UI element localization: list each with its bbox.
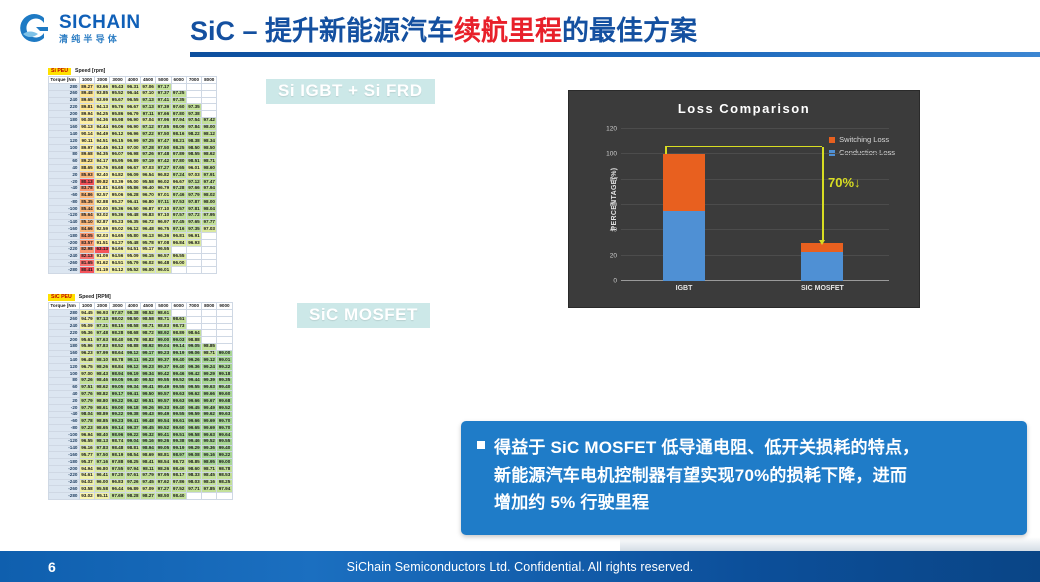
cell-efficiency: 96.28 <box>125 192 140 199</box>
table-row: 28089.2793.6695.4396.3197.0697.17 <box>49 83 217 90</box>
cell-efficiency: 99.59 <box>186 411 201 418</box>
cell-efficiency: 99.37 <box>156 357 171 364</box>
table-row: 4097.7698.8299.1799.4199.5099.5799.6399.… <box>49 391 233 398</box>
cell-efficiency: 96.91 <box>186 233 201 240</box>
cell-efficiency: 96.70 <box>140 192 155 199</box>
cell-efficiency: 99.19 <box>171 445 186 452</box>
cell-efficiency: 98.10 <box>95 357 110 364</box>
table-row: 8089.6894.3596.0796.9897.2697.4897.8998.… <box>49 151 217 158</box>
table-row: 22095.3697.4898.2898.6898.7298.9298.8998… <box>49 330 233 337</box>
cell-efficiency: 97.95 <box>156 472 171 479</box>
cell-efficiency: 98.71 <box>202 350 217 357</box>
cell-efficiency: 97.41 <box>156 97 171 104</box>
cell-efficiency: 95.52 <box>110 90 125 97</box>
cell-efficiency: 96.97 <box>156 219 171 226</box>
cell-efficiency: 99.12 <box>202 357 217 364</box>
cell-efficiency: 98.58 <box>125 323 140 330</box>
cell-torque: -200 <box>49 465 80 472</box>
cell-efficiency: 90.14 <box>79 131 94 138</box>
cell-efficiency: 95.86 <box>125 185 140 192</box>
cell-efficiency: 91.81 <box>95 185 110 192</box>
cell-efficiency: 98.54 <box>125 452 140 459</box>
cell-efficiency: 94.12 <box>110 267 125 274</box>
column-header-speed: 2000 <box>95 77 110 84</box>
cell-efficiency: 97.71 <box>186 486 201 493</box>
cell-efficiency: 95.96 <box>79 343 94 350</box>
cell-efficiency: 93.39 <box>110 178 125 185</box>
cell-efficiency <box>217 309 232 316</box>
cell-efficiency: 97.03 <box>186 172 201 179</box>
cell-efficiency: 97.26 <box>125 479 140 486</box>
table-row: 24095.0997.3198.1598.5898.7198.8398.73 <box>49 323 233 330</box>
table-row: 8097.2698.4699.0599.4099.5299.5599.5299.… <box>49 377 233 384</box>
cell-efficiency <box>202 337 217 344</box>
cell-efficiency: 96.79 <box>156 185 171 192</box>
cell-efficiency: 99.03 <box>171 337 186 344</box>
cell-efficiency: 98.00 <box>202 199 217 206</box>
cell-efficiency: 99.40 <box>125 377 140 384</box>
cell-efficiency <box>186 316 201 323</box>
chart-gridline <box>621 255 889 256</box>
column-header-speed: 8000 <box>202 77 217 84</box>
cell-efficiency: 99.23 <box>110 418 125 425</box>
cell-efficiency: 92.03 <box>95 233 110 240</box>
cell-efficiency: 95.95 <box>110 158 125 165</box>
table-row: -18095.3797.1697.8898.2598.4198.5498.729… <box>49 459 233 466</box>
cell-efficiency: 80.13 <box>79 178 94 185</box>
cell-efficiency: 97.83 <box>95 343 110 350</box>
cell-efficiency: 95.17 <box>140 246 155 253</box>
cell-efficiency: 97.80 <box>171 111 186 118</box>
cell-efficiency: 99.42 <box>186 371 201 378</box>
table-row: -28080.4191.1994.1295.5296.0096.01 <box>49 267 217 274</box>
cell-efficiency <box>202 104 217 111</box>
cell-efficiency: 98.46 <box>95 377 110 384</box>
chart-bar-sic-mosfet: SIC MOSFET <box>801 243 843 281</box>
cell-efficiency: 94.45 <box>95 145 110 152</box>
cell-efficiency: 96.82 <box>156 172 171 179</box>
cell-efficiency: 96.94 <box>79 432 94 439</box>
cell-efficiency: 63.13 <box>95 246 110 253</box>
cell-torque: 280 <box>49 309 80 316</box>
cell-efficiency: 97.42 <box>156 158 171 165</box>
cell-efficiency: 96.15 <box>110 138 125 145</box>
cell-efficiency: 95.02 <box>110 226 125 233</box>
cell-efficiency: 94.65 <box>110 185 125 192</box>
cell-efficiency: 97.38 <box>186 111 201 118</box>
cell-efficiency: 95.58 <box>140 178 155 185</box>
cell-efficiency: 97.27 <box>156 486 171 493</box>
cell-efficiency: 95.06 <box>110 192 125 199</box>
cell-efficiency: 98.71 <box>202 465 217 472</box>
chart-title: Loss Comparison <box>569 101 919 116</box>
cell-efficiency: 96.40 <box>140 185 155 192</box>
cell-efficiency: 97.28 <box>140 145 155 152</box>
cell-efficiency: 99.61 <box>171 418 186 425</box>
cell-efficiency: 99.41 <box>125 391 140 398</box>
cell-efficiency: 97.83 <box>95 445 110 452</box>
cell-efficiency: 98.34 <box>202 138 217 145</box>
cell-efficiency: 93.85 <box>95 90 110 97</box>
cell-efficiency: 96.48 <box>125 212 140 219</box>
cell-efficiency: 99.67 <box>202 398 217 405</box>
cell-efficiency: 99.55 <box>171 411 186 418</box>
cell-efficiency: 97.03 <box>202 226 217 233</box>
cell-efficiency: 96.48 <box>79 357 94 364</box>
cell-efficiency <box>217 337 232 344</box>
cell-efficiency: 98.81 <box>156 452 171 459</box>
cell-efficiency: 97.87 <box>186 199 201 206</box>
cell-efficiency: 99.50 <box>140 391 155 398</box>
cell-efficiency <box>186 246 201 253</box>
cell-efficiency: 95.09 <box>125 253 140 260</box>
cell-efficiency: 93.02 <box>79 493 94 500</box>
cell-efficiency: 90.08 <box>79 117 94 124</box>
cell-efficiency: 99.16 <box>202 452 217 459</box>
cell-efficiency: 99.69 <box>202 418 217 425</box>
cell-torque: 160 <box>49 124 80 131</box>
cell-efficiency: 96.35 <box>125 219 140 226</box>
cell-efficiency: 96.90 <box>125 117 140 124</box>
table-tag: Si PEU <box>48 68 71 75</box>
cell-efficiency <box>202 267 217 274</box>
cell-efficiency: 98.40 <box>171 493 186 500</box>
cell-efficiency: 96.48 <box>140 226 155 233</box>
cell-efficiency: 99.08 <box>186 452 201 459</box>
callout-body: 得益于 SiC MOSFET 低导通电阻、低开关损耗的特点， 新能源汽车电机控制… <box>494 434 919 525</box>
cell-efficiency: 99.40 <box>217 384 232 391</box>
cell-efficiency: 93.76 <box>95 165 110 172</box>
cell-efficiency: 99.33 <box>156 404 171 411</box>
table-row: 4088.6593.7695.6896.6797.0397.2797.6596.… <box>49 165 217 172</box>
cell-efficiency <box>186 309 201 316</box>
cell-efficiency: 98.21 <box>171 138 186 145</box>
cell-efficiency: 99.52 <box>156 425 171 432</box>
cell-efficiency: 99.06 <box>186 350 201 357</box>
cell-efficiency: 99.62 <box>186 391 201 398</box>
cell-efficiency: 99.41 <box>125 418 140 425</box>
cell-efficiency: 97.25 <box>140 138 155 145</box>
cell-torque: -40 <box>49 185 80 192</box>
cell-efficiency: 97.51 <box>79 384 94 391</box>
callout-line-3: 增加约 5% 行驶里程 <box>494 489 919 517</box>
cell-efficiency: 98.22 <box>186 131 201 138</box>
cell-efficiency: 96.13 <box>110 145 125 152</box>
cell-efficiency: 99.00 <box>217 459 232 466</box>
cell-torque: 60 <box>49 158 80 165</box>
cell-efficiency: 98.64 <box>186 330 201 337</box>
cell-torque: -240 <box>49 479 80 486</box>
table-row: -6084.8692.5795.0696.2896.7097.0197.4697… <box>49 192 217 199</box>
annotation-bracket-top <box>665 146 822 148</box>
cell-efficiency: 96.55 <box>125 97 140 104</box>
column-header-speed: 3000 <box>110 77 125 84</box>
cell-efficiency: 95.79 <box>125 260 140 267</box>
table-row: 2097.7998.8099.2299.4299.5199.5799.6399.… <box>49 398 233 405</box>
cell-efficiency: 94.94 <box>79 465 94 472</box>
cell-efficiency: 99.55 <box>217 438 232 445</box>
table-row: -16084.6692.5995.0296.1296.4896.7597.169… <box>49 226 217 233</box>
column-header-speed: 7000 <box>186 77 201 84</box>
cell-efficiency: 99.37 <box>125 425 140 432</box>
cell-efficiency: 98.71 <box>202 158 217 165</box>
chart-gridline <box>621 204 889 205</box>
table-row: 16096.2397.9998.6499.1299.1799.2399.1999… <box>49 350 233 357</box>
cell-efficiency: 85.44 <box>79 206 94 213</box>
cell-efficiency: 97.52 <box>171 486 186 493</box>
cell-efficiency: 95.61 <box>79 337 94 344</box>
cell-efficiency: 90.13 <box>79 124 94 131</box>
cell-efficiency: 96.48 <box>156 260 171 267</box>
cell-efficiency: 99.04 <box>125 438 140 445</box>
cell-efficiency: 99.62 <box>202 411 217 418</box>
cell-efficiency: 99.05 <box>156 445 171 452</box>
cell-efficiency: 96.01 <box>186 165 201 172</box>
cell-efficiency: 95.80 <box>125 233 140 240</box>
cell-efficiency: 97.61 <box>125 472 140 479</box>
cell-efficiency: 97.50 <box>156 131 171 138</box>
cell-efficiency: 99.55 <box>171 384 186 391</box>
cell-efficiency: 98.26 <box>95 364 110 371</box>
cell-efficiency: 95.52 <box>125 267 140 274</box>
cell-efficiency: 99.40 <box>171 357 186 364</box>
cell-efficiency: 97.65 <box>186 219 201 226</box>
cell-efficiency: 98.03 <box>186 479 201 486</box>
cell-efficiency: 97.27 <box>156 165 171 172</box>
cell-torque: 140 <box>49 357 80 364</box>
cell-efficiency: 95.98 <box>110 117 125 124</box>
cell-efficiency: 99.63 <box>171 391 186 398</box>
cell-torque: 40 <box>49 165 80 172</box>
cell-torque: -140 <box>49 445 80 452</box>
cell-efficiency: 99.45 <box>186 404 201 411</box>
table-row: -12096.5598.1398.7499.0499.1699.2699.389… <box>49 438 233 445</box>
cell-efficiency: 93.02 <box>95 212 110 219</box>
cell-efficiency <box>202 83 217 90</box>
cell-efficiency: 96.01 <box>156 267 171 274</box>
cell-efficiency: 98.83 <box>156 323 171 330</box>
cell-efficiency: 99.39 <box>202 377 217 384</box>
cell-efficiency: 98.02 <box>110 316 125 323</box>
cell-efficiency: 94.45 <box>79 309 94 316</box>
cell-efficiency: 96.09 <box>125 172 140 179</box>
column-header-speed: 1000 <box>79 77 94 84</box>
cell-efficiency <box>202 97 217 104</box>
cell-efficiency: 96.67 <box>125 165 140 172</box>
summary-callout: 得益于 SiC MOSFET 低导通电阻、低开关损耗的特点， 新能源汽车电机控制… <box>461 421 1027 535</box>
page-title: SiC – 提升新能源汽车续航里程的最佳方案 <box>190 9 697 48</box>
cell-efficiency: 99.40 <box>217 445 232 452</box>
cell-torque: 180 <box>49 343 80 350</box>
cell-efficiency: 97.77 <box>202 219 217 226</box>
table-row: 20089.9494.2595.8696.7997.1197.6697.8097… <box>49 111 217 118</box>
cell-efficiency: 91.51 <box>95 239 110 246</box>
cell-efficiency: 95.86 <box>110 111 125 118</box>
cell-efficiency: 84.05 <box>79 233 94 240</box>
cell-efficiency: 94.66 <box>110 246 125 253</box>
cell-efficiency: 91.62 <box>95 260 110 267</box>
cell-efficiency: 99.64 <box>217 432 232 439</box>
cell-efficiency: 97.88 <box>110 459 125 466</box>
cell-efficiency: 98.00 <box>202 124 217 131</box>
cell-efficiency <box>202 111 217 118</box>
cell-efficiency: 97.84 <box>186 124 201 131</box>
cell-efficiency: 93.66 <box>95 83 110 90</box>
cell-efficiency: 97.09 <box>140 486 155 493</box>
cell-efficiency <box>202 246 217 253</box>
table-row: -20083.5791.5194.2795.4895.7897.0896.849… <box>49 239 217 246</box>
cell-efficiency: 98.61 <box>156 309 171 316</box>
efficiency-grid-si: Torque [Nm100020003000400045005000600070… <box>48 76 217 274</box>
cell-efficiency: 98.64 <box>110 350 125 357</box>
cell-efficiency: 97.85 <box>156 124 171 131</box>
cell-efficiency <box>171 309 186 316</box>
cell-efficiency: 99.14 <box>171 343 186 350</box>
cell-efficiency: 99.60 <box>171 425 186 432</box>
cell-efficiency: 99.52 <box>140 377 155 384</box>
cell-efficiency <box>171 267 186 274</box>
cell-efficiency: 98.11 <box>140 465 155 472</box>
cell-efficiency: 96.93 <box>95 309 110 316</box>
column-header-speed: 4000 <box>125 303 140 310</box>
cell-torque: -60 <box>49 418 80 425</box>
cell-efficiency <box>186 90 201 97</box>
annotation-arrowhead-icon <box>819 240 825 245</box>
efficiency-table-sic: SiC PEUSpeed [RPM]Torque [Nm100020003000… <box>48 294 233 500</box>
cell-efficiency: 97.79 <box>140 472 155 479</box>
cell-efficiency: 98.04 <box>79 411 94 418</box>
chart-y-tick-label: 100 <box>606 151 617 158</box>
cell-efficiency: 94.56 <box>110 253 125 260</box>
cell-efficiency: 97.79 <box>79 404 94 411</box>
cell-efficiency: 99.49 <box>202 404 217 411</box>
cell-torque: 80 <box>49 151 80 158</box>
cell-efficiency: 99.46 <box>186 438 201 445</box>
cell-efficiency: 96.81 <box>171 233 186 240</box>
cell-torque: 180 <box>49 117 80 124</box>
cell-efficiency: 98.38 <box>186 138 201 145</box>
cell-efficiency: 97.26 <box>140 151 155 158</box>
cell-efficiency: 97.57 <box>171 212 186 219</box>
cell-efficiency: 89.68 <box>79 151 94 158</box>
cell-efficiency <box>202 330 217 337</box>
cell-efficiency: 99.04 <box>156 343 171 350</box>
cell-efficiency: 96.41 <box>125 199 140 206</box>
cell-efficiency: 99.22 <box>110 398 125 405</box>
cell-efficiency: 83.78 <box>79 185 94 192</box>
column-header-speed: 6000 <box>171 77 186 84</box>
loss-comparison-chart: Loss Comparison Switching LossConduction… <box>568 90 920 308</box>
cell-efficiency: 97.87 <box>110 309 125 316</box>
cell-efficiency: 98.82 <box>95 391 110 398</box>
cell-efficiency: 97.66 <box>186 185 201 192</box>
cell-efficiency: 97.11 <box>156 199 171 206</box>
chart-y-tick-label: 0 <box>613 278 617 285</box>
cell-efficiency: 98.40 <box>110 337 125 344</box>
cell-efficiency: 99.17 <box>110 391 125 398</box>
cell-efficiency: 97.94 <box>217 486 232 493</box>
cell-efficiency: 97.91 <box>202 172 217 179</box>
cell-efficiency: 99.36 <box>202 445 217 452</box>
cell-efficiency: 94.02 <box>79 479 94 486</box>
cell-torque: -100 <box>49 432 80 439</box>
column-header-speed: 4000 <box>125 77 140 84</box>
cell-efficiency: 99.46 <box>171 371 186 378</box>
cell-efficiency: 93.00 <box>95 206 110 213</box>
callout-line-1: 得益于 SiC MOSFET 低导通电阻、低开关损耗的特点， <box>494 434 919 462</box>
cell-efficiency: 98.72 <box>140 330 155 337</box>
cell-torque: -260 <box>49 486 80 493</box>
cell-efficiency: 97.99 <box>95 350 110 357</box>
table-row: 12090.1194.5196.1596.9997.2597.4798.2198… <box>49 138 217 145</box>
cell-efficiency: 98.28 <box>110 330 125 337</box>
table-row: -16095.7797.5098.1998.5498.6998.8198.979… <box>49 452 233 459</box>
cell-efficiency: 99.01 <box>217 357 232 364</box>
cell-efficiency <box>186 493 201 500</box>
table-row: -26093.5895.5896.4496.8997.0997.2797.529… <box>49 486 233 493</box>
cell-efficiency: 91.09 <box>95 253 110 260</box>
table-row: -2080.1389.8293.3995.0095.5896.0296.6797… <box>49 178 217 185</box>
cell-efficiency: 94.25 <box>95 111 110 118</box>
cell-efficiency: 99.22 <box>217 364 232 371</box>
table-caption-sic: SiC PEUSpeed [RPM] <box>48 294 233 301</box>
cell-efficiency: 97.39 <box>156 104 171 111</box>
cell-efficiency <box>202 323 217 330</box>
cell-efficiency: 95.78 <box>140 239 155 246</box>
cell-efficiency: 98.71 <box>156 316 171 323</box>
cell-efficiency: 96.54 <box>140 172 155 179</box>
cell-torque: 220 <box>49 330 80 337</box>
cell-efficiency: 96.13 <box>140 233 155 240</box>
cell-efficiency: 97.12 <box>186 178 201 185</box>
cell-efficiency: 98.41 <box>140 459 155 466</box>
cell-efficiency: 98.61 <box>95 404 110 411</box>
cell-efficiency: 98.43 <box>95 371 110 378</box>
cell-efficiency: 97.48 <box>95 330 110 337</box>
cell-efficiency: 82.98 <box>79 246 94 253</box>
cell-efficiency: 99.66 <box>202 391 217 398</box>
cell-torque: -180 <box>49 233 80 240</box>
cell-efficiency: 88.65 <box>79 165 94 172</box>
column-header-speed: 4500 <box>140 77 155 84</box>
cell-efficiency: 98.89 <box>171 330 186 337</box>
cell-efficiency: 99.26 <box>186 357 201 364</box>
cell-efficiency: 95.67 <box>110 97 125 104</box>
cell-efficiency: 98.53 <box>217 472 232 479</box>
cell-efficiency: 94.17 <box>95 158 110 165</box>
cell-efficiency: 99.69 <box>202 425 217 432</box>
footer-sheen <box>620 537 1040 551</box>
cell-efficiency: 97.80 <box>171 158 186 165</box>
cell-efficiency: 97.16 <box>171 226 186 233</box>
table-row: 10097.0098.4398.9499.1999.3499.4299.4699… <box>49 371 233 378</box>
cell-torque: -180 <box>49 459 80 466</box>
column-header-speed: 6000 <box>171 303 186 310</box>
cell-efficiency: 99.18 <box>125 404 140 411</box>
table-row: 16090.1394.4496.0696.9097.1297.8598.0997… <box>49 124 217 131</box>
cell-efficiency: 98.85 <box>186 459 201 466</box>
cell-efficiency: 98.88 <box>186 337 201 344</box>
cell-efficiency: 99.66 <box>186 418 201 425</box>
cell-efficiency: 97.57 <box>171 206 186 213</box>
cell-efficiency: 97.13 <box>95 316 110 323</box>
cell-efficiency: 99.68 <box>217 398 232 405</box>
cell-efficiency: 81.65 <box>79 260 94 267</box>
cell-efficiency: 99.41 <box>156 432 171 439</box>
cell-efficiency: 98.73 <box>171 323 186 330</box>
slide-footer: 6 SiChain Semiconductors Ltd. Confidenti… <box>0 551 1040 582</box>
cell-efficiency: 95.36 <box>79 330 94 337</box>
